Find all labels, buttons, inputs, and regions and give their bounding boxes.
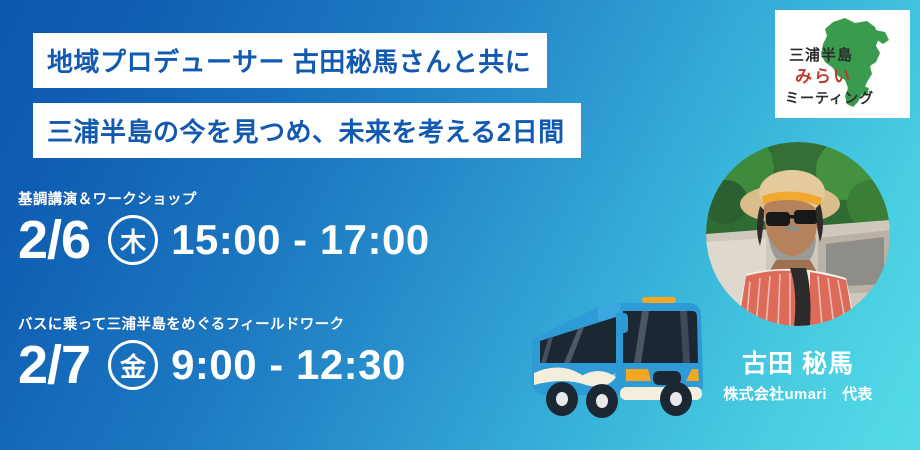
day-of-week-circle-day2: 金: [108, 340, 158, 390]
tour-bus-icon: [520, 277, 720, 427]
schedule-label-day2: バスに乗って三浦半島をめぐるフィールドワーク: [18, 313, 406, 334]
speaker-organization: 株式会社umari 代表: [686, 383, 910, 404]
day-of-week-circle-day1: 木: [108, 215, 158, 265]
headline-text-2: 三浦半島の今を見つめ、未来を考える2日間: [47, 112, 565, 149]
schedule-date-day2: 2/7: [18, 336, 90, 394]
speaker-name: 古田 秘馬: [706, 344, 890, 380]
schedule-label-day1: 基調講演＆ワークショップ: [18, 188, 430, 209]
svg-text:三浦半島: 三浦半島: [789, 46, 853, 64]
event-logo-card: 三浦半島 みらい ミーティング: [775, 10, 910, 118]
speaker-portrait-avatar: [706, 142, 890, 326]
schedule-entry-day2: バスに乗って三浦半島をめぐるフィールドワーク 2/7 金 9:00 - 12:3…: [18, 313, 406, 394]
event-banner: 地域プロデューサー 古田秘馬さんと共に 三浦半島の今を見つめ、未来を考える2日間…: [0, 0, 920, 450]
headline-box-1: 地域プロデューサー 古田秘馬さんと共に: [33, 33, 547, 88]
headline-text-1: 地域プロデューサー 古田秘馬さんと共に: [47, 42, 531, 79]
schedule-row-day1: 2/6 木 15:00 - 17:00: [18, 211, 430, 269]
schedule-time-day1: 15:00 - 17:00: [171, 216, 430, 264]
schedule-date-day1: 2/6: [18, 211, 90, 269]
svg-text:みらい: みらい: [795, 67, 852, 86]
schedule-entry-day1: 基調講演＆ワークショップ 2/6 木 15:00 - 17:00: [18, 188, 430, 269]
schedule-time-day2: 9:00 - 12:30: [171, 341, 406, 389]
svg-text:ミーティング: ミーティング: [785, 90, 874, 106]
schedule-row-day2: 2/7 金 9:00 - 12:30: [18, 336, 406, 394]
headline-box-2: 三浦半島の今を見つめ、未来を考える2日間: [33, 103, 581, 158]
